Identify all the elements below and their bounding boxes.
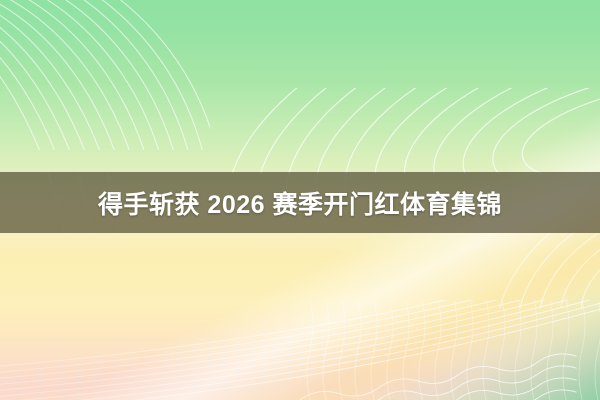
- page-title: 得手斩获 2026 赛季开门红体育集锦: [0, 172, 600, 233]
- banner-image: 得手斩获 2026 赛季开门红体育集锦: [0, 0, 600, 400]
